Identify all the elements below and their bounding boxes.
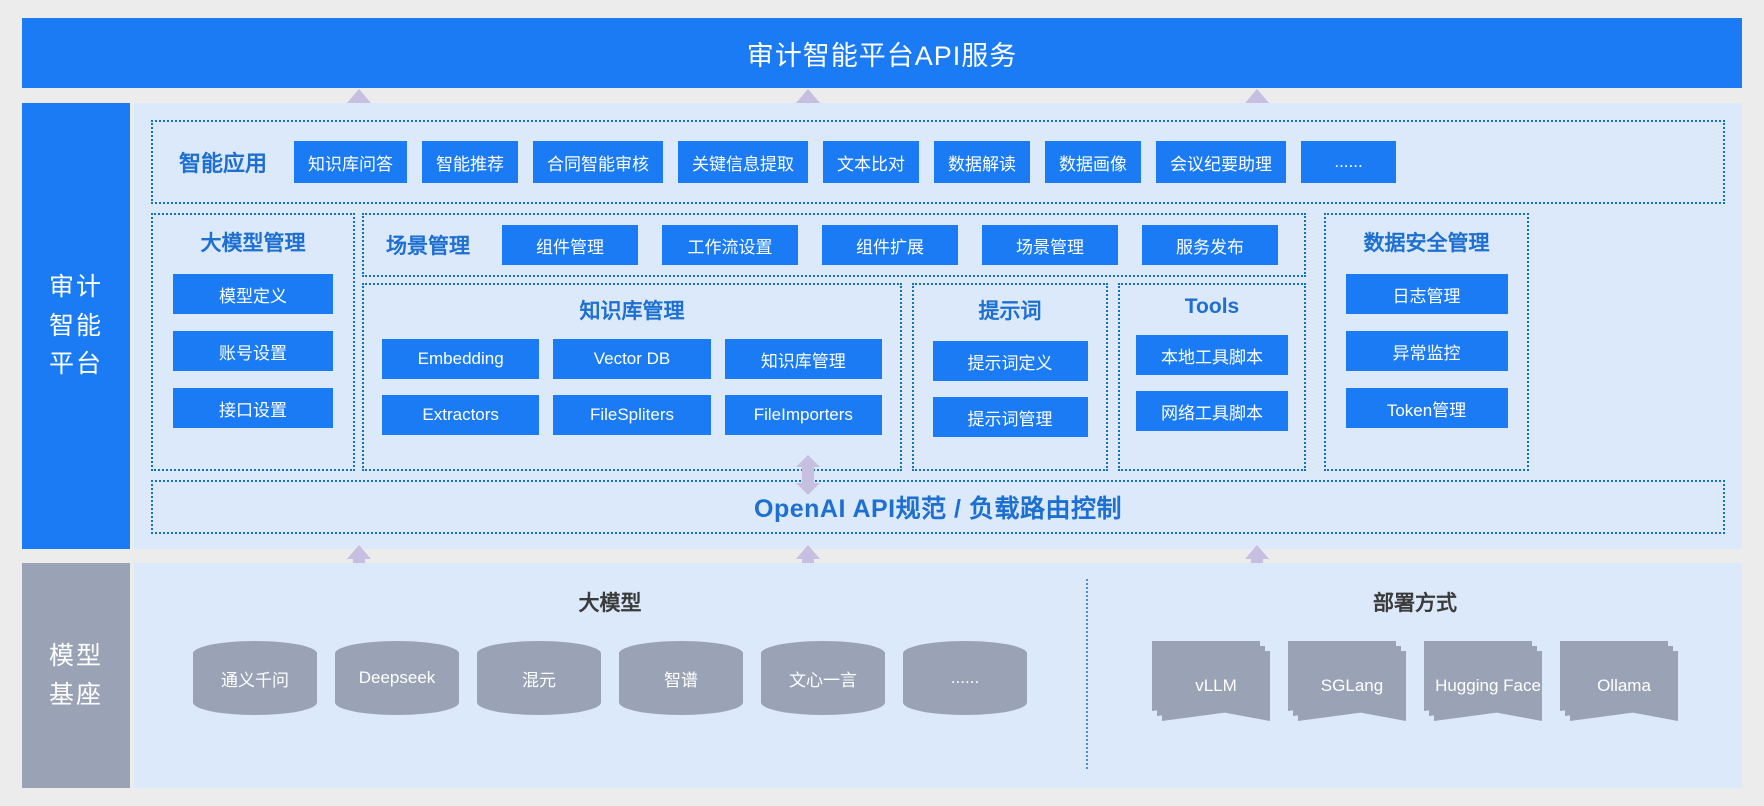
model-base-panel: 大模型 通义千问 Deepseek 混元 智谱 文心一言 ...... 部署方式…: [134, 563, 1742, 788]
section-title-model-management: 大模型管理: [201, 227, 306, 257]
section-title-scene-management: 场景管理: [386, 230, 470, 260]
model-cylinder-label: ......: [951, 668, 979, 688]
sec-chip-anomaly-monitoring[interactable]: 异常监控: [1346, 331, 1508, 371]
mm-chip-model-definition[interactable]: 模型定义: [173, 274, 333, 314]
section-title-data-security-management: 数据安全管理: [1364, 227, 1490, 257]
scene-chip-workflow-settings[interactable]: 工作流设置: [662, 225, 798, 265]
base-models-title: 大模型: [134, 563, 1086, 617]
base-models-row: 通义千问 Deepseek 混元 智谱 文心一言 ......: [134, 617, 1086, 715]
api-service-bar: 审计智能平台API服务: [22, 18, 1742, 88]
sec-chip-token-management[interactable]: Token管理: [1346, 388, 1508, 428]
section-model-management: 大模型管理 模型定义 账号设置 接口设置: [151, 213, 355, 471]
mm-chip-interface-settings[interactable]: 接口设置: [173, 388, 333, 428]
base-deployment-title: 部署方式: [1088, 563, 1742, 617]
model-cylinder-wenxin[interactable]: 文心一言: [761, 641, 885, 715]
model-cylinder-label: Deepseek: [359, 668, 436, 688]
app-chip-smart-recommend[interactable]: 智能推荐: [422, 141, 518, 183]
deployment-docs-label: Ollama: [1570, 651, 1678, 721]
section-openai-api-spec: OpenAI API规范 / 负载路由控制: [151, 480, 1725, 534]
model-cylinder-label: 混元: [522, 666, 556, 691]
kb-chip-embedding[interactable]: Embedding: [382, 339, 539, 379]
tools-chip-network-script[interactable]: 网络工具脚本: [1136, 391, 1288, 431]
deployment-docs-huggingface[interactable]: Hugging Face: [1424, 641, 1542, 721]
sidebar-label-platform-line-1: 审计: [49, 268, 103, 307]
model-cylinder-tongyi[interactable]: 通义千问: [193, 641, 317, 715]
scene-chip-component-management[interactable]: 组件管理: [502, 225, 638, 265]
kb-chip-file-spliters[interactable]: FileSpliters: [553, 395, 710, 435]
app-chip-more[interactable]: ......: [1301, 141, 1396, 183]
model-cylinder-deepseek[interactable]: Deepseek: [335, 641, 459, 715]
deployment-docs-vllm[interactable]: vLLM: [1152, 641, 1270, 721]
api-service-title: 审计智能平台API服务: [747, 34, 1018, 73]
deployment-docs-ollama[interactable]: Ollama: [1560, 641, 1678, 721]
section-title-prompt: 提示词: [979, 295, 1042, 325]
kb-chip-extractors[interactable]: Extractors: [382, 395, 539, 435]
kb-chip-vector-db[interactable]: Vector DB: [553, 339, 710, 379]
section-tools: Tools 本地工具脚本 网络工具脚本: [1118, 283, 1306, 471]
model-cylinder-label: 文心一言: [789, 666, 857, 691]
sidebar-label-base-line-1: 模型: [49, 637, 103, 676]
model-cylinder-label: 通义千问: [221, 666, 289, 691]
architecture-diagram: 审计智能平台API服务 审计 智能 平台 模型 基座 智能应用 知识库问答 智能…: [0, 0, 1764, 806]
scene-chip-service-publish[interactable]: 服务发布: [1142, 225, 1278, 265]
app-chip-contract-review[interactable]: 合同智能审核: [533, 141, 663, 183]
model-cylinder-hunyuan[interactable]: 混元: [477, 641, 601, 715]
model-cylinder-more[interactable]: ......: [903, 641, 1027, 715]
section-prompt: 提示词 提示词定义 提示词管理: [912, 283, 1108, 471]
app-chip-text-compare[interactable]: 文本比对: [823, 141, 919, 183]
base-models-group: 大模型 通义千问 Deepseek 混元 智谱 文心一言 ......: [134, 563, 1086, 788]
section-data-security-management: 数据安全管理 日志管理 异常监控 Token管理: [1324, 213, 1529, 471]
scene-chip-component-extension[interactable]: 组件扩展: [822, 225, 958, 265]
deployment-docs-sglang[interactable]: SGLang: [1288, 641, 1406, 721]
base-deployment-row: vLLM SGLang Hugging Face: [1088, 617, 1742, 721]
knowledge-base-grid: Embedding Vector DB 知识库管理 Extractors Fil…: [364, 325, 900, 435]
section-title-intelligent-applications: 智能应用: [179, 146, 267, 178]
section-intelligent-applications: 智能应用 知识库问答 智能推荐 合同智能审核 关键信息提取 文本比对 数据解读 …: [151, 120, 1725, 204]
tools-chip-local-script[interactable]: 本地工具脚本: [1136, 335, 1288, 375]
app-chip-data-portrait[interactable]: 数据画像: [1045, 141, 1141, 183]
app-chip-data-interpretation[interactable]: 数据解读: [934, 141, 1030, 183]
section-scene-management: 场景管理 组件管理 工作流设置 组件扩展 场景管理 服务发布: [362, 213, 1306, 277]
kb-chip-file-importers[interactable]: FileImporters: [725, 395, 882, 435]
section-title-knowledge-base-management: 知识库管理: [364, 295, 900, 325]
model-cylinder-label: 智谱: [664, 666, 698, 691]
app-chip-meeting-minutes[interactable]: 会议纪要助理: [1156, 141, 1286, 183]
section-knowledge-base-management: 知识库管理 Embedding Vector DB 知识库管理 Extracto…: [362, 283, 902, 471]
mm-chip-account-settings[interactable]: 账号设置: [173, 331, 333, 371]
section-title-tools: Tools: [1185, 295, 1239, 319]
deployment-docs-label: SGLang: [1298, 651, 1406, 721]
app-chip-key-info-extract[interactable]: 关键信息提取: [678, 141, 808, 183]
app-chip-knowledge-qa[interactable]: 知识库问答: [294, 141, 407, 183]
prompt-chip-management[interactable]: 提示词管理: [933, 397, 1088, 437]
prompt-chip-definition[interactable]: 提示词定义: [933, 341, 1088, 381]
deployment-docs-label: Hugging Face: [1434, 651, 1542, 721]
sidebar-label-platform-line-2: 智能: [49, 307, 103, 346]
model-cylinder-zhipu[interactable]: 智谱: [619, 641, 743, 715]
base-deployment-group: 部署方式 vLLM SGLang Hu: [1088, 563, 1742, 788]
sidebar-label-platform: 审计 智能 平台: [22, 103, 130, 549]
deployment-docs-label: vLLM: [1162, 651, 1270, 721]
platform-panel: 智能应用 知识库问答 智能推荐 合同智能审核 关键信息提取 文本比对 数据解读 …: [134, 103, 1742, 549]
sidebar-label-platform-line-3: 平台: [49, 345, 103, 384]
sidebar-label-base-line-2: 基座: [49, 676, 103, 715]
kb-chip-knowledge-base-management[interactable]: 知识库管理: [725, 339, 882, 379]
scene-chip-scene-management[interactable]: 场景管理: [982, 225, 1118, 265]
sec-chip-log-management[interactable]: 日志管理: [1346, 274, 1508, 314]
sidebar-label-model-base: 模型 基座: [22, 563, 130, 788]
double-arrow-vertical-icon-mid: [795, 455, 821, 495]
